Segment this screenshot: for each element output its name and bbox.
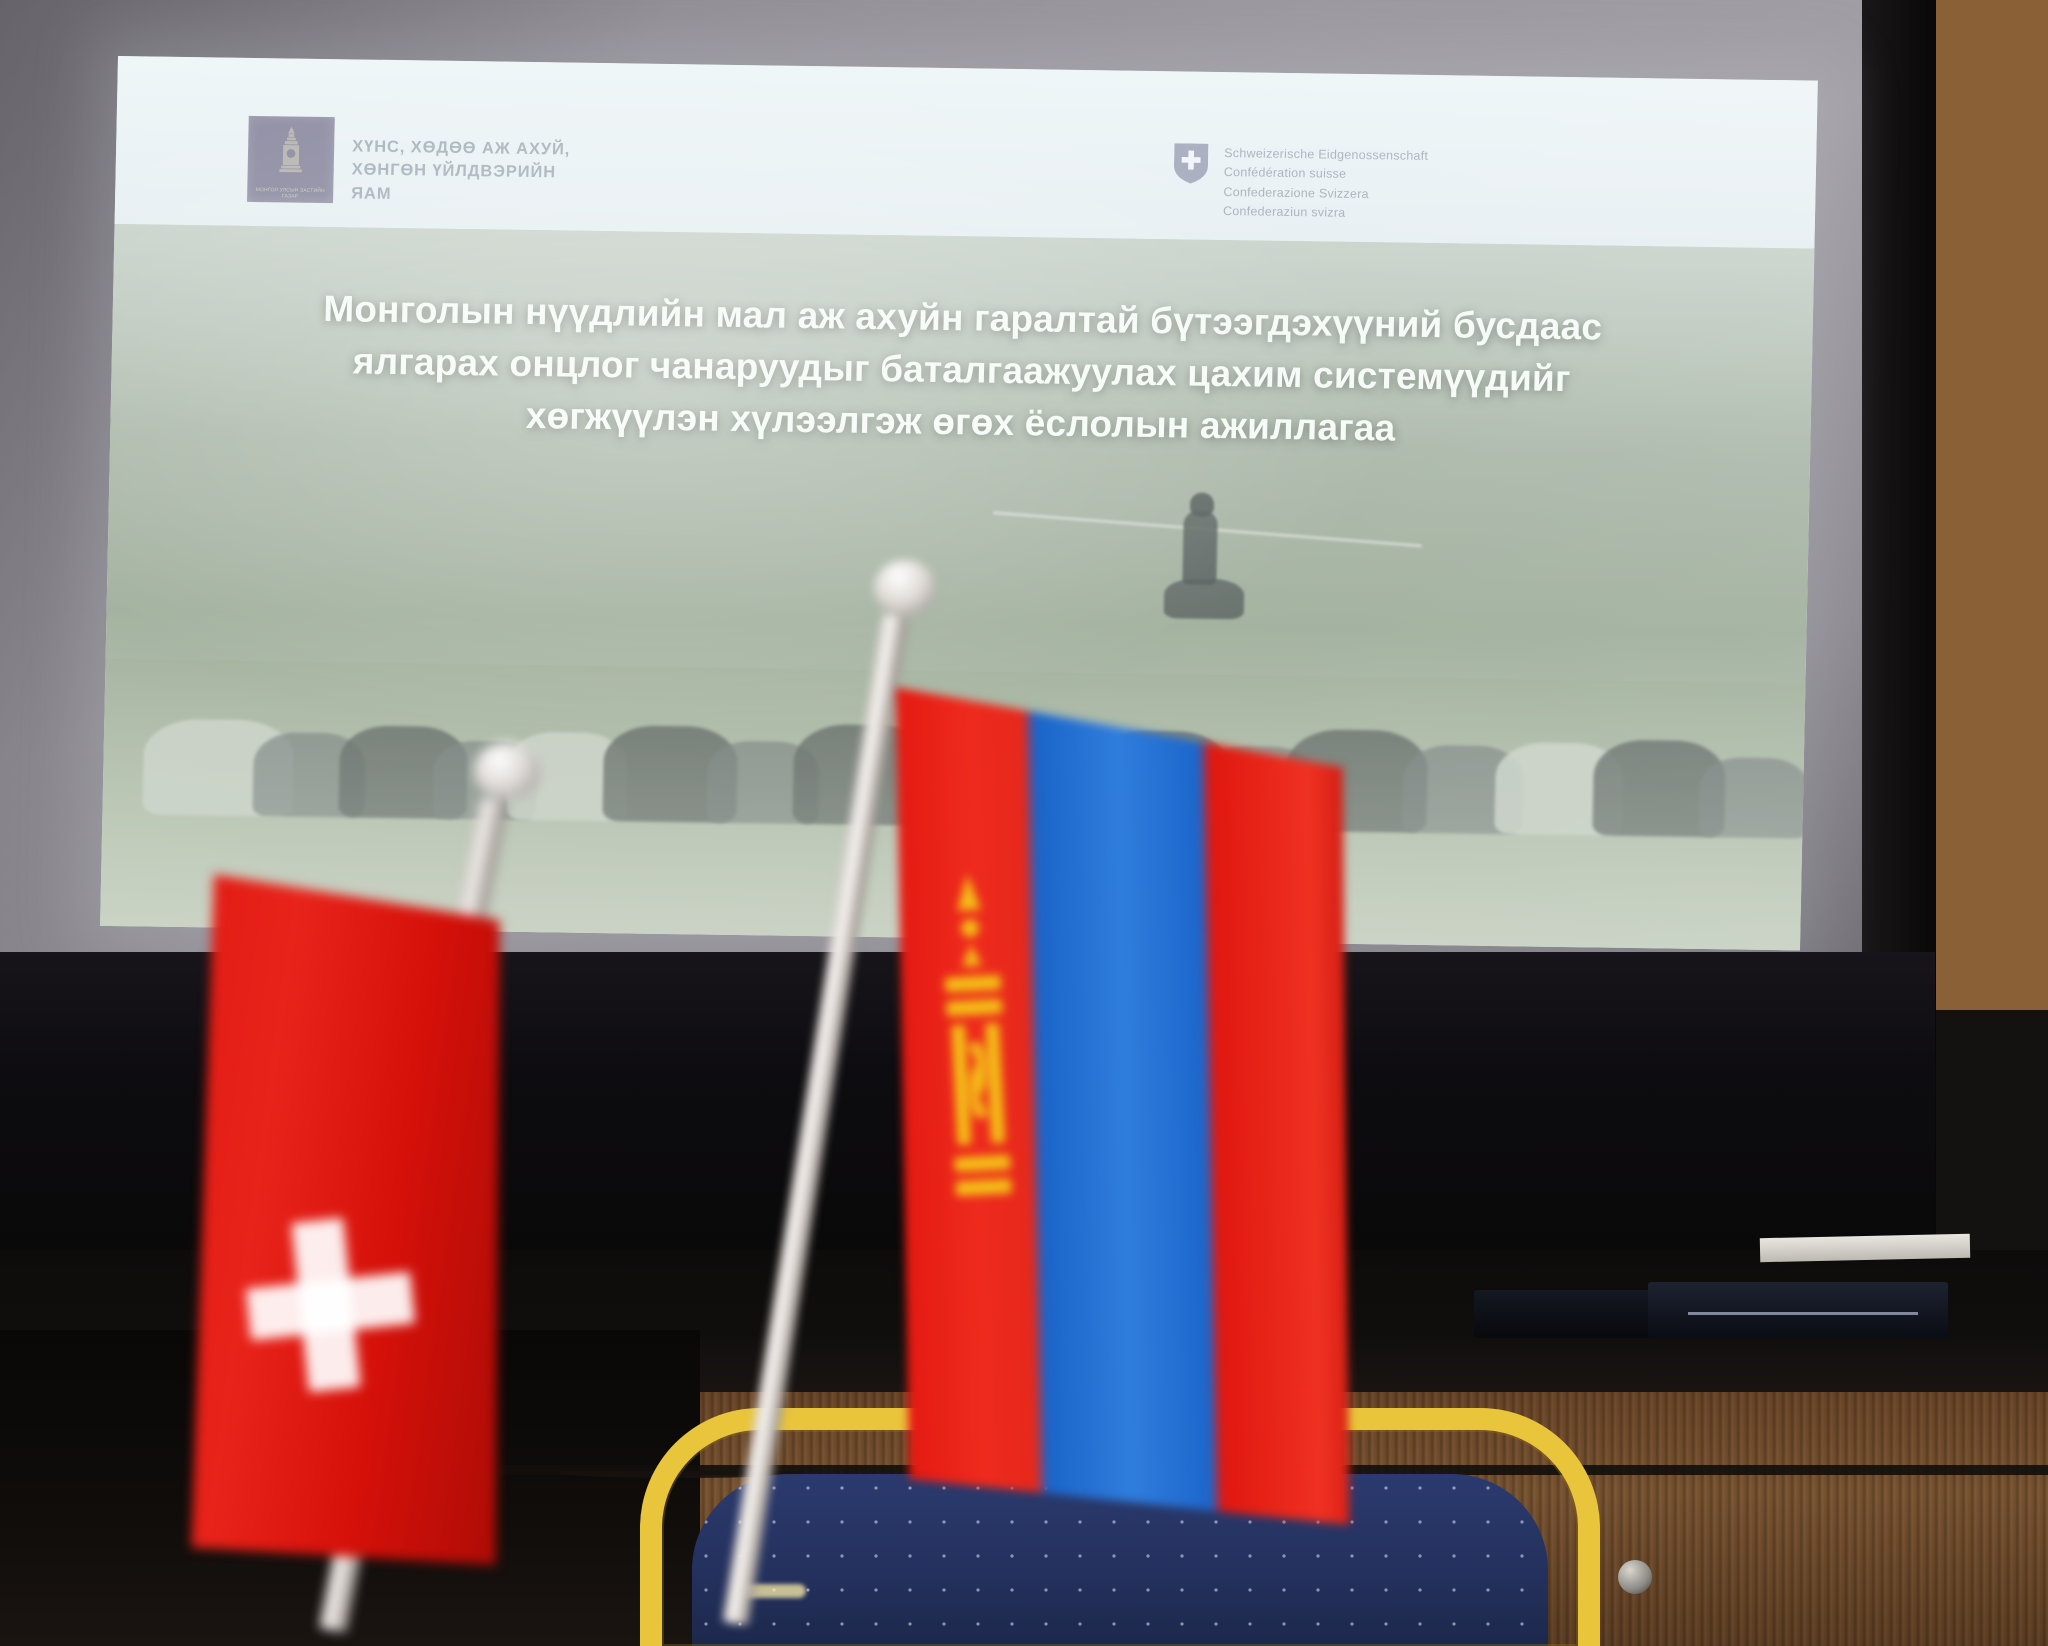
mongolian-flag-finial (874, 560, 936, 616)
swiss-flag-finial (474, 742, 540, 800)
emblem-caption: МОНГОЛ УЛСЫН ЗАСГИЙН ГАЗАР (251, 186, 329, 200)
confederation-line-rm: Confederaziun svizra (1223, 202, 1427, 224)
slide-title: Монголын нүүдлийн мал аж ахуйн гаралтай … (110, 280, 1813, 460)
swiss-flag (150, 760, 710, 1646)
soyombo-icon (275, 126, 306, 182)
swiss-flag-cloth (168, 864, 522, 1575)
ministry-line-2: ХӨНГӨН ҮЙЛДВЭРИЙН (351, 159, 570, 186)
ministry-line-3: ЯАМ (351, 182, 570, 209)
paper-sheet (1760, 1234, 1970, 1262)
ministry-logo-lockup: МОНГОЛ УЛСЫН ЗАСГИЙН ГАЗАР ХҮНС, ХӨДӨӨ А… (247, 116, 571, 209)
swiss-cross-shield-icon (1174, 143, 1209, 183)
ministry-line-1: ХҮНС, ХӨДӨӨ АЖ АХУЙ, (352, 135, 571, 162)
desk-device-secondary (1474, 1290, 1674, 1338)
ministry-name-text: ХҮНС, ХӨДӨӨ АЖ АХУЙ, ХӨНГӨН ҮЙЛДВЭРИЙН Я… (351, 117, 571, 208)
mongolia-soyombo-emblem: МОНГОЛ УЛСЫН ЗАСГИЙН ГАЗАР (247, 116, 335, 203)
wood-panel-wall (1930, 0, 2048, 1010)
mongolian-flag (770, 580, 1410, 1646)
desk-knob (1618, 1560, 1652, 1594)
confederation-line-fr: Confédération suisse (1224, 163, 1428, 185)
desk-device-primary (1648, 1282, 1948, 1338)
confederation-names: Schweizerische Eidgenossenschaft Confédé… (1223, 144, 1429, 224)
conference-room-scene: МОНГОЛ УЛСЫН ЗАСГИЙН ГАЗАР ХҮНС, ХӨДӨӨ А… (0, 0, 2048, 1646)
